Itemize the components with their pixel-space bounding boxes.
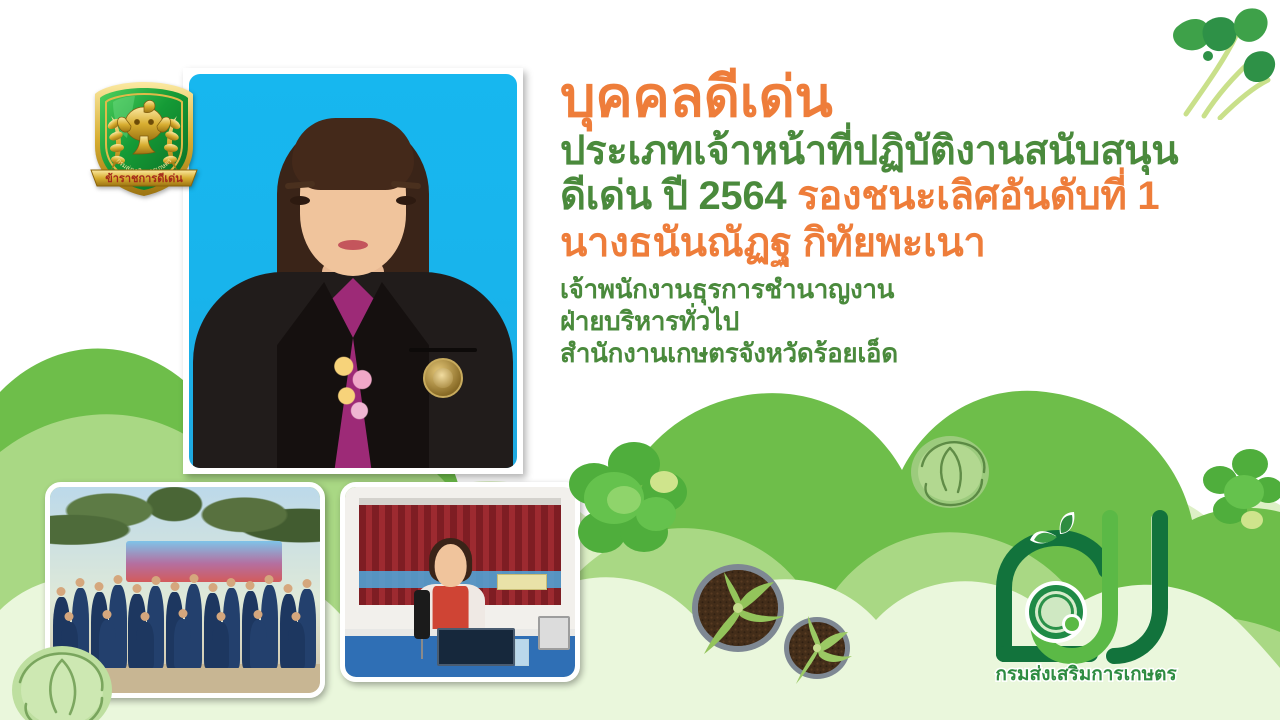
headline-line-2: ประเภทเจ้าหน้าที่ปฏิบัติงานสนับสนุน [560,129,1260,174]
award-poster: กรมส่งเสริมการเกษตร ข้าราชการดีเด่น [0,0,1280,720]
civil-servant-award-emblem: กรมส่งเสริมการเกษตร ข้าราชการดีเด่น [83,78,205,200]
portrait-image [189,74,517,468]
subtitle-position: เจ้าพนักงานธุรการชำนาญงาน [560,273,1260,305]
logo-caption: กรมส่งเสริมการเกษตร [995,664,1177,685]
laptop-icon [437,628,515,666]
headline-line-3-green: ดีเด่น ปี 2564 [560,174,797,218]
presentation-photo [340,482,580,682]
uniform-badge-icon [423,358,463,398]
seedling-pot-large [686,556,790,666]
subtitle-block: เจ้าพนักงานธุรการชำนาญงาน ฝ่ายบริหารทั่ว… [560,273,1260,369]
headline-line-3: ดีเด่น ปี 2564 รองชนะเลิศอันดับที่ 1 [560,174,1260,219]
headline-text-block: บุคคลดีเด่น ประเภทเจ้าหน้าที่ปฏิบัติงานส… [560,66,1260,369]
department-of-agricultural-extension-logo: กรมส่งเสริมการเกษตร [960,496,1210,686]
award-recipient-portrait [183,68,523,474]
headline-line-1: บุคคลดีเด่น [560,66,1260,128]
subtitle-division: ฝ่ายบริหารทั่วไป [560,305,1260,337]
recipient-name: นางธนันณัฏฐ กิทัยพะเนา [560,220,1260,267]
seedling-pot-small [780,608,854,688]
headline-line-3-rank: รองชนะเลิศอันดับที่ 1 [797,174,1159,218]
lettuce-photo-left [568,440,690,558]
podium-photo-image [345,487,575,677]
emblem-banner-text: ข้าราชการดีเด่น [105,172,183,185]
microphone-icon [414,590,430,639]
lettuce-photo-right [1202,444,1280,534]
subtitle-office: สำนักงานเกษตรจังหวัดร้อยเอ็ด [560,337,1260,369]
cabbage-illustration-bottom-left [8,640,116,720]
